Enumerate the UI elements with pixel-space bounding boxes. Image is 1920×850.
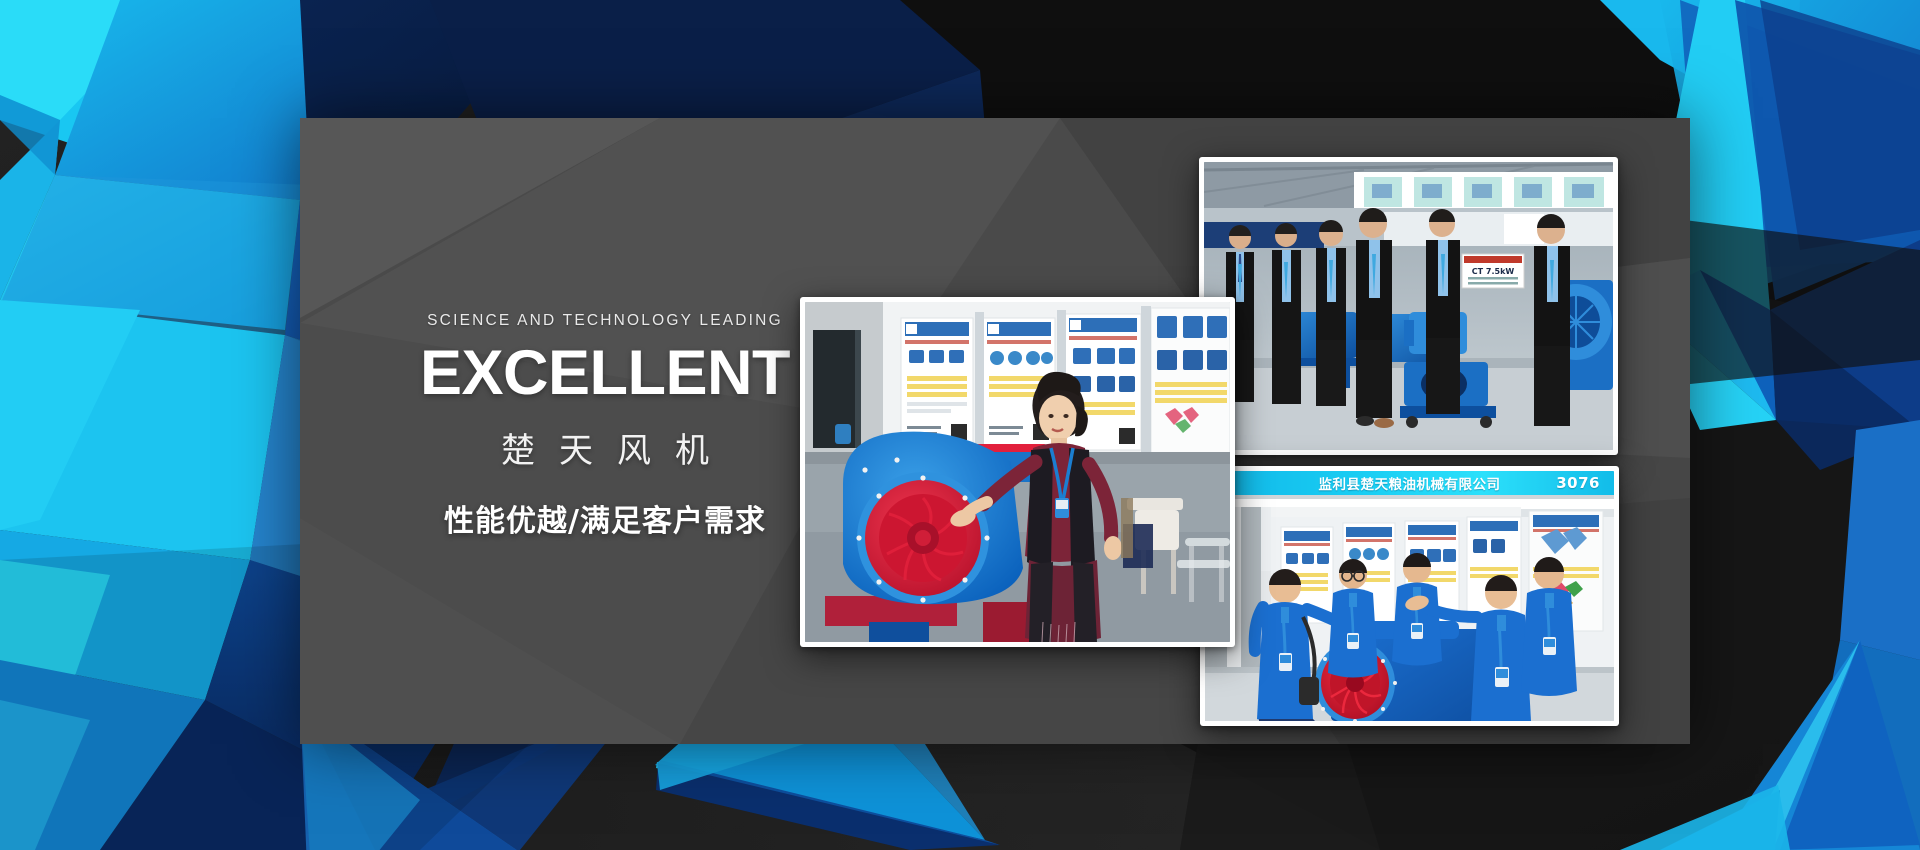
photo-inner: 监利县楚天粮油机械有限公司 3076 (1205, 471, 1614, 721)
exhibition-presenter-fan-photo[interactable] (800, 297, 1235, 647)
photo-inner: CT 7.5kW (1204, 162, 1613, 450)
hero-headline: EXCELLENT (395, 342, 815, 405)
booth-number: 3076 (1556, 474, 1600, 492)
svg-text:CT 7.5kW: CT 7.5kW (1472, 267, 1515, 276)
booth-banner: 监利县楚天粮油机械有限公司 3076 (1205, 471, 1614, 495)
hero-eyebrow: SCIENCE AND TECHNOLOGY LEADING (395, 312, 815, 330)
photo-inner (805, 302, 1230, 642)
presenter-fan-illustration (805, 302, 1230, 642)
hero-text-block: SCIENCE AND TECHNOLOGY LEADING EXCELLENT… (395, 312, 815, 540)
exhibition-team-suits-photo[interactable]: CT 7.5kW (1199, 157, 1618, 455)
hero-brand-chinese: 楚天风机 (395, 423, 815, 472)
hero-tagline-chinese: 性能优越/满足客户需求 (395, 496, 815, 540)
booth-company-name: 监利县楚天粮油机械有限公司 (1319, 473, 1501, 493)
hero-banner-stage: SCIENCE AND TECHNOLOGY LEADING EXCELLENT… (0, 0, 1920, 850)
team-bluepolo-illustration (1205, 471, 1614, 721)
exhibition-team-bluepolo-photo[interactable]: 监利县楚天粮油机械有限公司 3076 (1200, 466, 1619, 726)
team-suits-illustration: CT 7.5kW (1204, 162, 1613, 450)
